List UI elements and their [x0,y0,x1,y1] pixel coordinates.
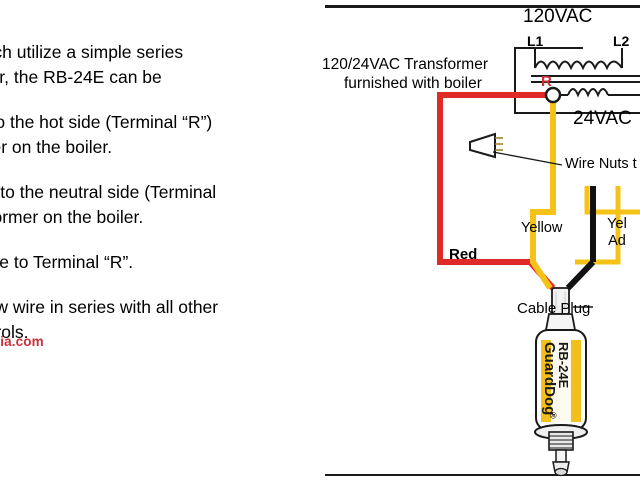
terminal-r-node [546,88,560,102]
yellow-additional-line-2: Ad [608,233,626,249]
yellow-line-1: wire to Terminal “R”. [0,252,133,272]
label-yellow-wire: Yellow [521,220,562,237]
instruction-paragraph-yellow: llow wire to Terminal “R”. [0,250,338,275]
white-line-2: ) transformer on the boiler. [0,207,143,227]
instruction-paragraph-intro: ers which utilize a simple series he boi… [0,40,338,90]
device-model-text: RB-24E [556,342,571,388]
red-line-1: wire to the hot side (Terminal “R”) [0,112,212,132]
yellow-wire-primary [533,95,553,288]
label-transformer-note: 120/24VAC Transformer furnished with boi… [322,55,517,93]
series-line-1: yellow wire in series with all other [0,297,218,317]
yellow-additional-line-1: Yel [607,216,627,232]
white-line-1: wire to the neutral side (Terminal [0,182,216,202]
label-terminal-r: R [541,73,552,90]
instruction-paragraph-red: d wire to the hot side (Terminal “R”) ns… [0,110,338,160]
label-yellow-additional: Yel Ad [587,216,640,250]
instruction-paragraph-white: ite wire to the neutral side (Terminal )… [0,180,338,230]
intro-line-2: he boiler, the RB-24E can be [0,67,162,87]
device-brand-text: GuardDog [541,342,558,415]
label-wire-nuts: Wire Nuts t [565,156,637,173]
device-brand-mark: ® [548,412,558,419]
label-cable-plug: Cable Plug [517,300,590,317]
wiring-diagram-page: ers which utilize a simple series he boi… [0,0,640,480]
red-line-2: nsformer on the boiler. [0,137,112,157]
label-24vac: 24VAC [573,110,632,127]
instruction-paragraph-series: er yellow wire in series with all other … [0,295,338,345]
transformer-note-line-2: furnished with boiler [322,74,482,93]
transformer-note-line-1: 120/24VAC Transformer [322,56,488,73]
diagram-panel: 120VAC L1 L2 R 24VAC 120/24VAC Transform… [325,0,640,480]
site-watermark: pectApedia.com [0,334,44,349]
label-120vac: 120VAC [523,8,592,25]
intro-line-1: ers which utilize a simple series [0,42,183,62]
label-l1: L1 [527,33,543,50]
instruction-text-column: ers which utilize a simple series he boi… [0,40,338,365]
transformer-symbol [515,48,640,113]
wire-nut-icon [470,134,562,165]
label-l2: L2 [613,33,629,50]
label-red-wire: Red [449,246,477,263]
